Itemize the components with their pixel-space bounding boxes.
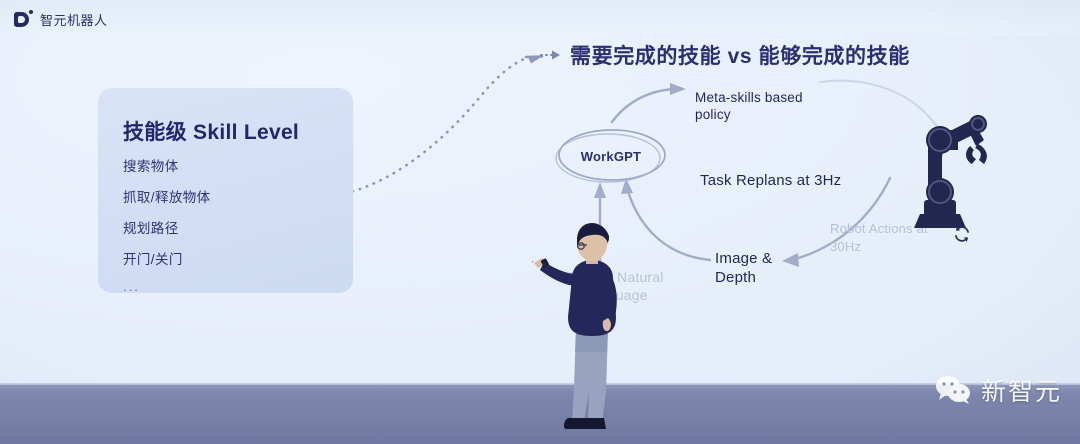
screenshot-root: 智元机器人 需要完成的技能 vs 能够完成的技能 技能级 Skill Level… [0,0,1080,444]
page-title: 需要完成的技能 vs 能够完成的技能 [570,40,910,70]
list-item: 抓取/释放物体 [123,186,211,206]
list-item: 搜索物体 [123,155,211,175]
slide-title-row: 需要完成的技能 vs 能够完成的技能 [540,40,910,70]
wechat-bubbles-icon [933,375,973,405]
list-item: 规划路径 [123,217,211,237]
watermark-text: 新智元 [981,372,1062,408]
brand-logo: 智元机器人 [14,10,108,29]
refresh-loop-icon [952,224,972,244]
workgpt-node: WorkGPT [552,128,670,184]
list-item: 开门/关门 [123,248,211,268]
skill-card-list: 搜索物体 抓取/释放物体 规划路径 开门/关门 ... [123,155,211,305]
robot-arm-icon [880,88,1000,238]
label-meta-skills: Meta-skills based policy [695,90,803,124]
workgpt-label: WorkGPT [552,128,670,184]
arrow-right-icon [540,49,562,61]
label-image-depth: Image & Depth [715,250,772,288]
wall-top-band [0,0,1080,34]
presenter-figure [532,222,652,437]
skill-level-card: 技能级 Skill Level 搜索物体 抓取/释放物体 规划路径 开门/关门 … [98,88,353,293]
skill-card-heading: 技能级 Skill Level [123,116,299,146]
list-item-ellipsis: ... [123,279,211,294]
brand-name: 智元机器人 [40,10,108,29]
curved-arrow-up-right-icon [612,83,686,122]
watermark: 新智元 [933,372,1062,408]
label-task-replans: Task Replans at 3Hz [700,172,841,191]
agibot-d-logo-icon [14,10,33,29]
